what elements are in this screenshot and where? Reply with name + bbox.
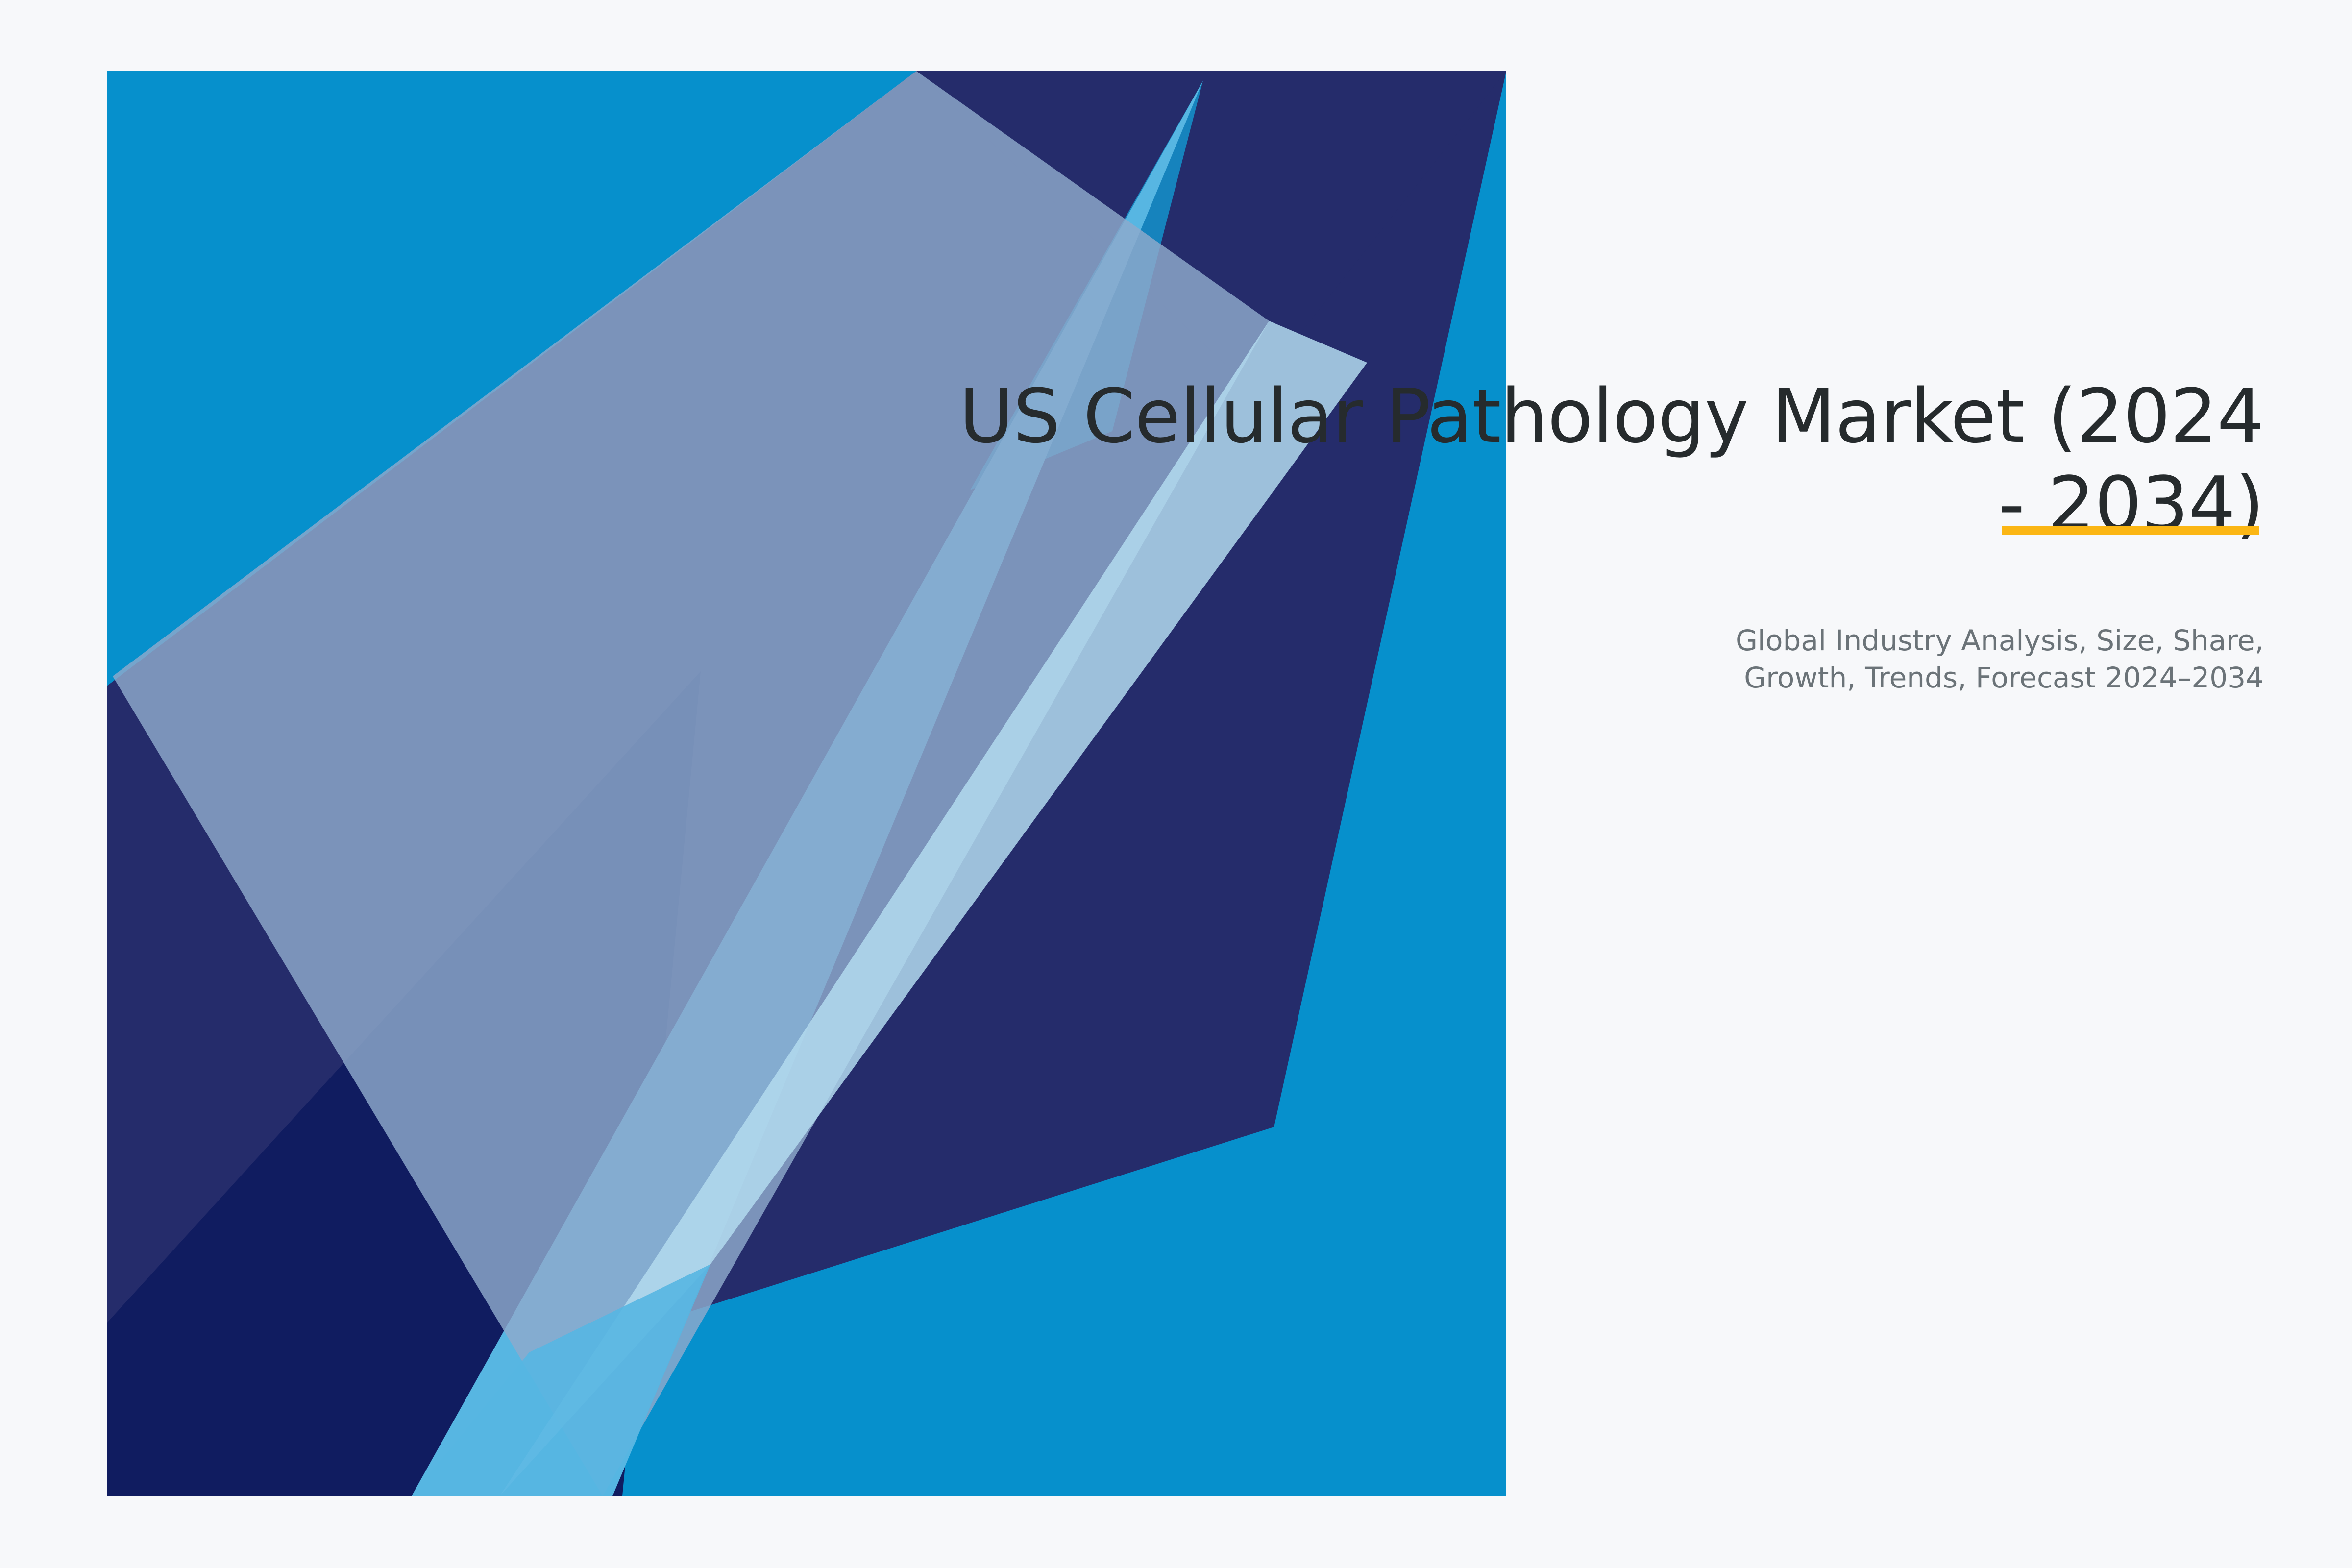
report-cover-page: US Cellular Pathology Market (2024- 2034… [0,0,2352,1568]
page-subtitle-line-1: Global Industry Analysis, Size, Share, [1736,624,2264,657]
title-accent-underline [2002,526,2259,535]
page-subtitle-line-2: Growth, Trends, Forecast 2024–2034 [1744,661,2264,694]
page-title: US Cellular Pathology Market (2024- 2034… [931,372,2264,548]
geometric-artwork [0,0,2352,1568]
page-title-line-1: US Cellular Pathology Market (2024 [959,373,2264,460]
page-title-line-2: - 2034) [1998,461,2264,547]
title-wrapper: US Cellular Pathology Market (2024- 2034… [931,372,2264,548]
page-subtitle: Global Industry Analysis, Size, Share,Gr… [931,548,2264,697]
cover-text-block: US Cellular Pathology Market (2024- 2034… [931,372,2264,697]
